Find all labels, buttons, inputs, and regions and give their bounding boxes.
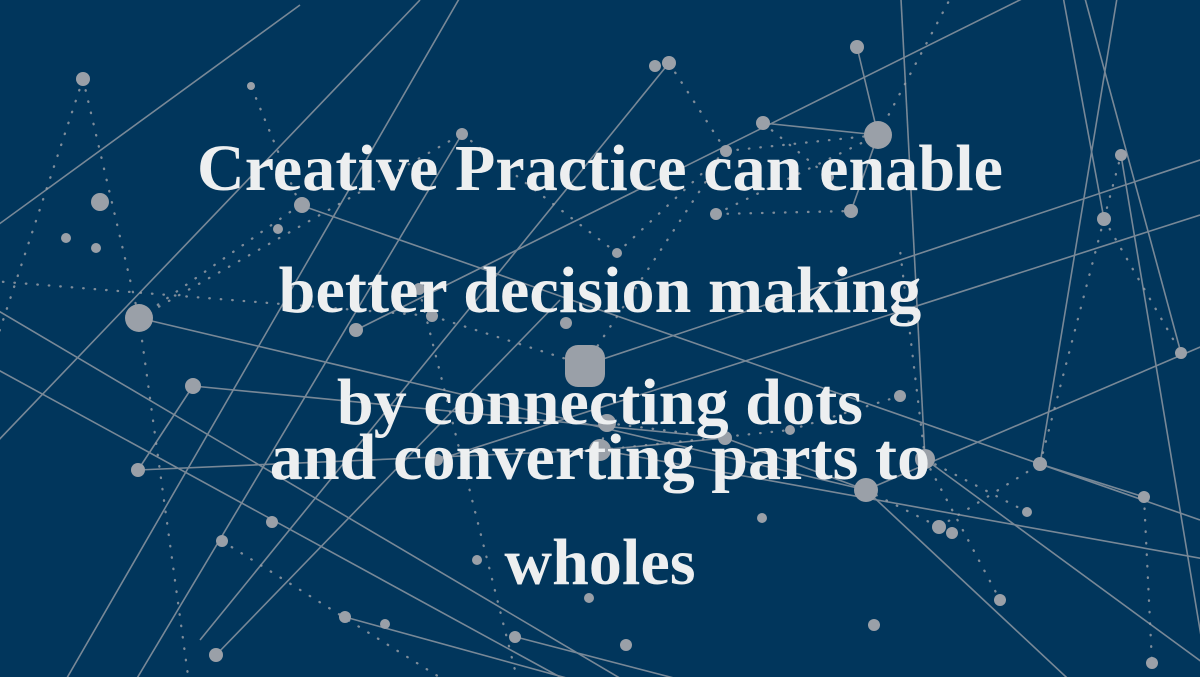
headline-line-5: wholes — [0, 530, 1200, 596]
headline-line-4: and converting parts to — [0, 425, 1200, 491]
headline-block: Creative Practice can enable better deci… — [0, 0, 1200, 677]
headline-line-2: better decision making — [0, 258, 1200, 324]
headline-line-1: Creative Practice can enable — [0, 136, 1200, 202]
slide-canvas: Creative Practice can enable better deci… — [0, 0, 1200, 677]
